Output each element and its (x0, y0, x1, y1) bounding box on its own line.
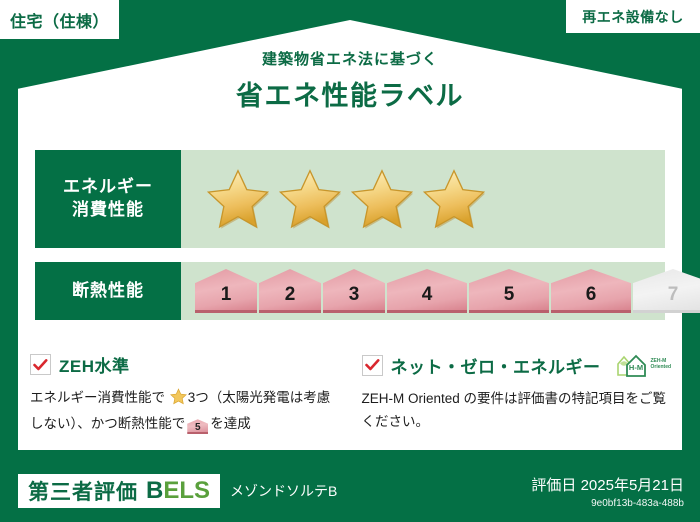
grade-badge-5: 5 (469, 269, 549, 313)
grade-badge-3: 3 (323, 269, 385, 313)
evaluation-date: 評価日 2025年5月21日 (531, 474, 684, 495)
star-icon (349, 167, 415, 231)
criteria-zeh-title: ZEH水準 (59, 352, 130, 377)
evaluation-id: 9e0bf13b-483a-488b (531, 498, 684, 509)
criteria-zeh-header: ZEH水準 (30, 352, 344, 377)
criteria-zeh-text-1: エネルギー消費性能で (30, 390, 165, 405)
grade-badge-4: 4 (387, 269, 467, 313)
insulation-label: 断熱性能 (72, 280, 144, 303)
star-icon (277, 167, 343, 231)
star-icon (205, 167, 271, 231)
grade-badge-2: 2 (259, 269, 321, 313)
zeh-m-oriented-logo: H-M ZEH-M Oriented (615, 352, 672, 378)
bels-certification-mark: 第三者評価 BELS (18, 474, 220, 508)
building-name: メゾンドソルテB (230, 481, 337, 501)
insulation-performance-row: 断熱性能 1234567 (35, 262, 665, 320)
badge-renewable-energy: 再エネ設備なし (566, 0, 700, 33)
zeh-logo-caption: ZEH-M Oriented (651, 359, 672, 371)
star-icon (421, 167, 487, 231)
checkmark-icon (362, 355, 383, 376)
grade-badge-7: 7 (633, 269, 700, 313)
energy-performance-label: 住宅（住棟） 再エネ設備なし 建築物省エネ法に基づく 省エネ性能ラベル エネルギ… (0, 0, 700, 522)
energy-rating-body (181, 150, 665, 248)
svg-text:H-M: H-M (628, 363, 642, 372)
footer: 第三者評価 BELS メゾンドソルテB 評価日 2025年5月21日 9e0bf… (0, 460, 700, 522)
document-subtitle: 建築物省エネ法に基づく (0, 48, 700, 69)
footer-meta: 評価日 2025年5月21日 9e0bf13b-483a-488b (531, 474, 684, 509)
energy-performance-label-box: エネルギー 消費性能 (35, 150, 181, 248)
criteria-net-zero-title: ネット・ゼロ・エネルギー (391, 353, 601, 378)
criteria-net-zero: ネット・ゼロ・エネルギー H-M ZEH-M Oriented ZEH-M Or… (362, 352, 676, 435)
star-rating (181, 167, 487, 231)
bels-wordmark: BELS (146, 477, 210, 505)
bels-letter-b: B (146, 477, 163, 504)
criteria-zeh-body: エネルギー消費性能で 3つ（太陽光発電は考慮しない）、かつ断熱性能で5を達成 (30, 386, 344, 435)
insulation-rating-body: 1234567 (181, 262, 700, 320)
criteria-zeh: ZEH水準 エネルギー消費性能で 3つ（太陽光発電は考慮しない）、かつ断熱性能で… (30, 352, 344, 435)
insulation-performance-label-box: 断熱性能 (35, 262, 181, 320)
zeh-logo-line2: Oriented (651, 364, 672, 370)
bels-letters-els: ELS (163, 477, 210, 504)
criteria-section: ZEH水準 エネルギー消費性能で 3つ（太陽光発電は考慮しない）、かつ断熱性能で… (30, 352, 675, 435)
title-block: 建築物省エネ法に基づく 省エネ性能ラベル (0, 48, 700, 113)
document-title: 省エネ性能ラベル (0, 74, 700, 113)
bels-prefix-label: 第三者評価 (28, 476, 138, 506)
grade-badge-6: 6 (551, 269, 631, 313)
criteria-zeh-text-3: を達成 (210, 416, 251, 431)
energy-label-line2: 消費性能 (72, 199, 144, 222)
inline-grade-badge: 5 (187, 419, 208, 434)
energy-label-line1: エネルギー (63, 176, 153, 199)
inline-star-icon (166, 393, 187, 408)
criteria-net-zero-header: ネット・ゼロ・エネルギー H-M ZEH-M Oriented (362, 352, 676, 378)
badge-building-type: 住宅（住棟） (0, 0, 119, 39)
checkmark-icon (30, 354, 51, 375)
grade-badge-1: 1 (195, 269, 257, 313)
energy-performance-row: エネルギー 消費性能 (35, 150, 665, 248)
criteria-net-zero-body: ZEH-M Oriented の要件は評価書の特記項目をご覧ください。 (362, 387, 676, 433)
grade-scale: 1234567 (181, 269, 700, 313)
criteria-zeh-star-count: 3つ（太陽光発電 (188, 390, 290, 405)
